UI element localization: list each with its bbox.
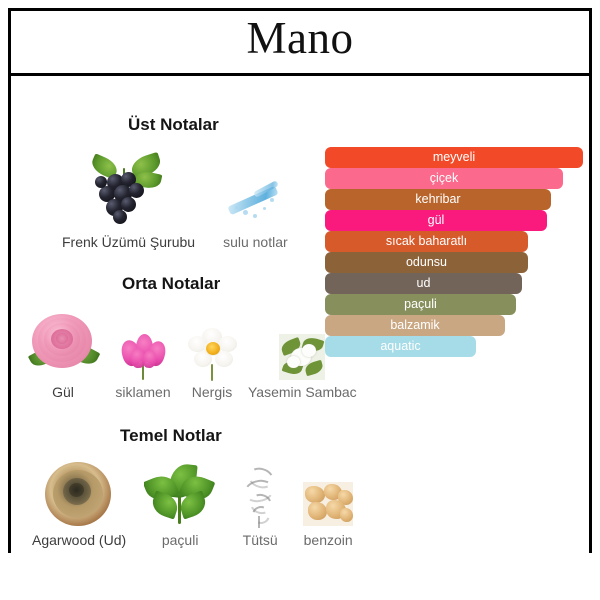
accord-label: balzamik: [390, 319, 439, 332]
incense-smoke-icon: [232, 464, 288, 530]
note-label: paçuli: [162, 532, 199, 548]
note-label: Tütsü: [243, 532, 278, 548]
note-label: sulu notlar: [223, 234, 288, 250]
note-label: benzoin: [304, 532, 353, 548]
patchouli-leaf-icon: [144, 462, 216, 530]
accord-bar: paçuli: [325, 294, 516, 315]
note-label: Nergis: [192, 384, 232, 400]
note-item-benzoin: benzoin: [300, 480, 356, 548]
fragrance-note-card: Mano Üst Notalar Frenk Üzümü Şurubu: [0, 0, 600, 600]
note-item-tutsu: Tütsü: [232, 464, 288, 548]
note-item-siklamen: siklamen: [112, 324, 174, 400]
accord-bar: ud: [325, 273, 522, 294]
water-splash-icon: [223, 174, 287, 232]
base-notes-group: Agarwood (Ud) paçuli Tütsü: [32, 458, 356, 548]
jasmine-icon: [275, 332, 329, 382]
accord-label: ud: [417, 277, 431, 290]
top-notes-group: Frenk Üzümü Şurubu sulu notlar: [62, 152, 288, 250]
brand-title: Mano: [247, 16, 354, 65]
base-notes-heading: Temel Notlar: [120, 426, 222, 446]
note-item-paculi: paçuli: [144, 462, 216, 548]
accord-bar: çiçek: [325, 168, 563, 189]
accord-label: gül: [428, 214, 445, 227]
accord-bar: balzamik: [325, 315, 505, 336]
accord-label: sıcak baharatlı: [386, 235, 467, 248]
middle-notes-group: Gül siklamen: [26, 306, 357, 400]
blackcurrant-icon: [83, 152, 175, 232]
accord-bar: gül: [325, 210, 547, 231]
top-notes-heading: Üst Notalar: [128, 115, 219, 135]
title-bar: Mano: [8, 8, 592, 76]
accord-label: odunsu: [406, 256, 447, 269]
accord-label: aquatic: [380, 340, 420, 353]
note-item-frenk-uzumu-surubu: Frenk Üzümü Şurubu: [62, 152, 195, 250]
note-item-agarwood-ud: Agarwood (Ud): [32, 458, 126, 548]
narcissus-icon: [182, 324, 242, 382]
note-label: Frenk Üzümü Şurubu: [62, 234, 195, 250]
accord-label: meyveli: [433, 151, 475, 164]
accord-label: çiçek: [430, 172, 458, 185]
accord-bar: kehribar: [325, 189, 551, 210]
accord-bar: odunsu: [325, 252, 528, 273]
note-label: Gül: [52, 384, 74, 400]
note-item-sulu-notlar: sulu notlar: [223, 174, 288, 250]
accord-bar: sıcak baharatlı: [325, 231, 528, 252]
benzoin-resin-icon: [300, 480, 356, 530]
cyclamen-icon: [112, 324, 174, 382]
rose-icon: [26, 306, 100, 382]
agarwood-slice-icon: [41, 458, 117, 530]
note-label: Agarwood (Ud): [32, 532, 126, 548]
accord-label: kehribar: [415, 193, 460, 206]
accord-label: paçuli: [404, 298, 437, 311]
note-item-nergis: Nergis: [182, 324, 242, 400]
note-item-gul: Gül: [26, 306, 100, 400]
note-label: siklamen: [115, 384, 170, 400]
note-label: Yasemin Sambac: [248, 384, 357, 400]
accord-bar: aquatic: [325, 336, 476, 357]
accord-bar: meyveli: [325, 147, 583, 168]
middle-notes-heading: Orta Notalar: [122, 274, 220, 294]
